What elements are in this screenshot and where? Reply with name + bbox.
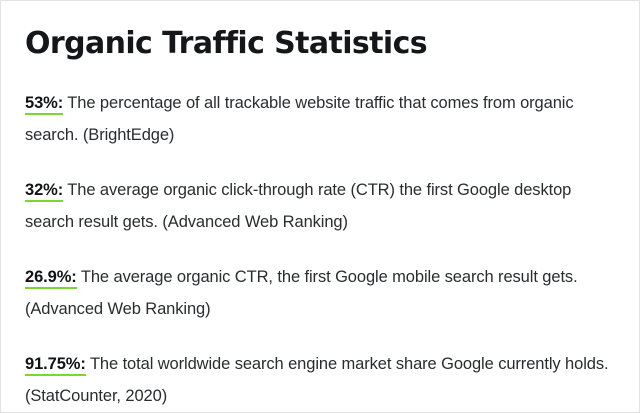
stat-description: The average organic CTR, the first Googl… — [25, 268, 578, 318]
stat-description: The percentage of all trackable website … — [25, 94, 574, 144]
stat-description: The average organic click-through rate (… — [25, 181, 571, 231]
list-item: 32%: The average organic click-through r… — [25, 174, 615, 238]
statistics-list: 53%: The percentage of all trackable web… — [25, 87, 615, 412]
stat-value-highlight: 32%: — [25, 181, 63, 202]
list-item: 26.9%: The average organic CTR, the firs… — [25, 261, 615, 325]
stat-description: The total worldwide search engine market… — [25, 355, 608, 405]
list-item: 53%: The percentage of all trackable web… — [25, 87, 615, 151]
page-title: Organic Traffic Statistics — [25, 27, 615, 61]
list-item: 91.75%: The total worldwide search engin… — [25, 348, 615, 412]
statistics-card: Organic Traffic Statistics 53%: The perc… — [0, 0, 640, 413]
card-content: Organic Traffic Statistics 53%: The perc… — [1, 1, 639, 412]
stat-value-highlight: 53%: — [25, 94, 63, 115]
stat-value-highlight: 91.75%: — [25, 355, 86, 376]
stat-value-highlight: 26.9%: — [25, 268, 77, 289]
